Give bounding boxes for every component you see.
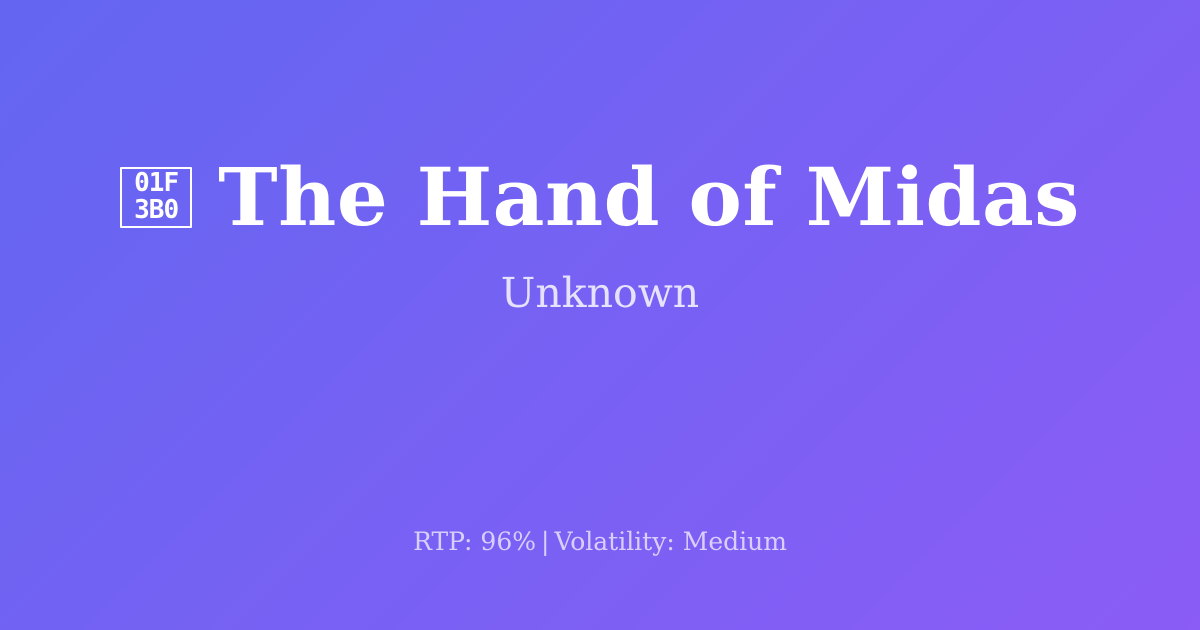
page-title: 01F 3B0 The Hand of Midas: [120, 154, 1080, 240]
game-og-card: 01F 3B0 The Hand of Midas Unknown RTP: 9…: [0, 0, 1200, 630]
slot-machine-icon: 01F 3B0: [120, 167, 192, 228]
game-title-text: The Hand of Midas: [218, 154, 1080, 240]
rtp-stat: RTP: 96%: [413, 527, 536, 556]
tofu-codepoint-row-2: 3B0: [134, 197, 178, 224]
tofu-codepoint-row-1: 01F: [134, 170, 178, 197]
volatility-stat: Volatility: Medium: [554, 527, 786, 556]
game-stats-line: RTP: 96%|Volatility: Medium: [0, 528, 1200, 556]
hero-block: 01F 3B0 The Hand of Midas Unknown: [0, 0, 1200, 470]
stats-separator: |: [536, 527, 554, 556]
game-provider-subtitle: Unknown: [501, 271, 699, 316]
